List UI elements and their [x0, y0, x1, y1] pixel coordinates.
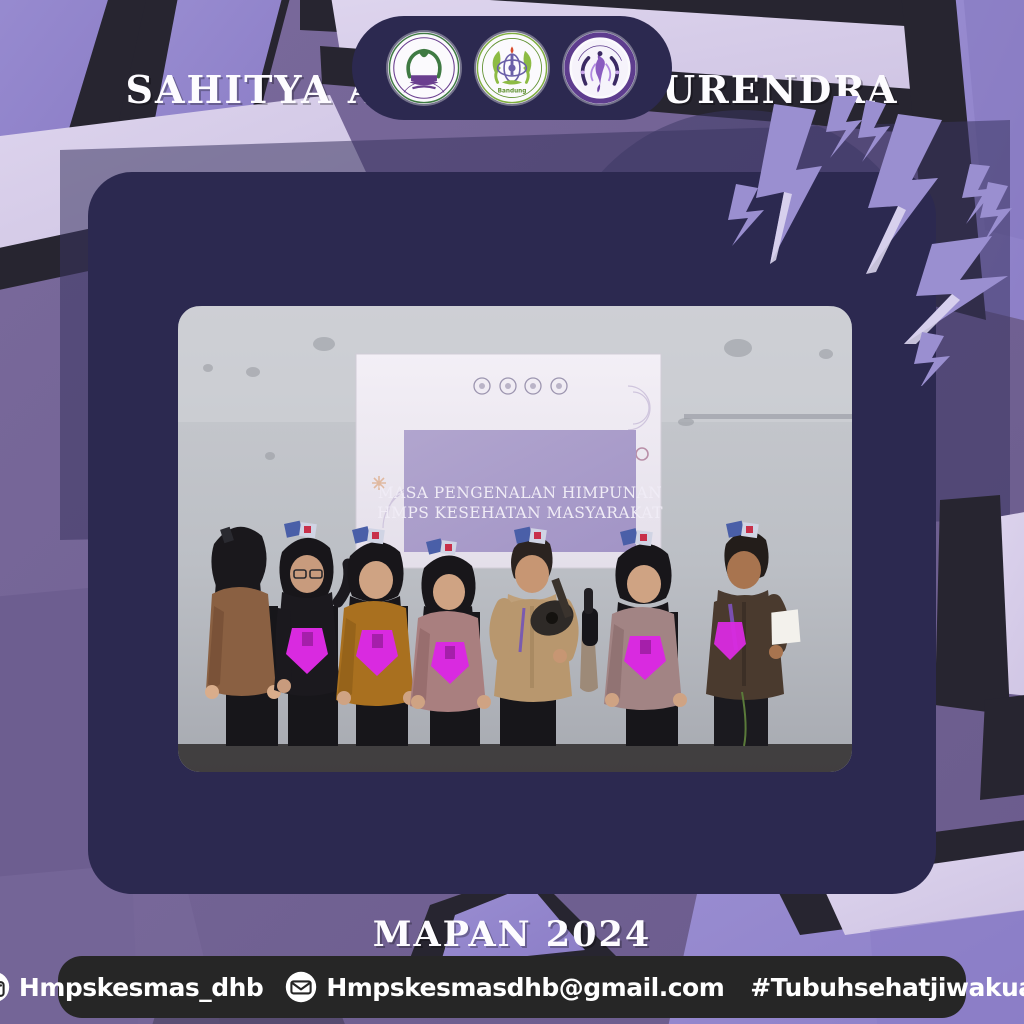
kesehatan-masyarakat-logo: Bandung [476, 32, 548, 104]
poster-canvas: Bandung KABINET [0, 0, 1024, 1024]
instagram-contact[interactable]: Hmpskesmas_dhb [0, 971, 263, 1003]
event-name: MAPAN 2024 [0, 912, 1024, 958]
stikes-dharma-husada-logo [388, 32, 460, 104]
svg-text:Bandung: Bandung [498, 88, 527, 94]
email-address: Hmpskesmasdhb@gmail.com [326, 973, 724, 1002]
projector-screen: MASA PENGENALAN HIMPUNAN HMPS KESEHATAN … [356, 354, 663, 568]
slide-text-line-1: MASA PENGENALAN HIMPUNAN [378, 484, 662, 502]
event-photo: MASA PENGENALAN HIMPUNAN HMPS KESEHATAN … [178, 306, 852, 772]
instagram-camera-icon [0, 971, 10, 1003]
event-photo-illustration: MASA PENGENALAN HIMPUNAN HMPS KESEHATAN … [178, 306, 852, 772]
instagram-handle: Hmpskesmas_dhb [19, 973, 263, 1002]
top-logo-bar: Bandung [352, 16, 672, 120]
email-contact[interactable]: Hmpskesmasdhb@gmail.com [285, 971, 724, 1003]
envelope-mail-icon [285, 971, 317, 1003]
sahitya-astama-mayurendra-logo [564, 32, 636, 104]
contact-footer-bar: Hmpskesmas_dhb Hmpskesmasdhb@gmail.com #… [58, 956, 966, 1018]
slide-text-line-2: HMPS KESEHATAN MASYARAKAT [377, 504, 663, 522]
hashtag-text: #Tubuhsehatjiwakuat [750, 973, 1024, 1002]
